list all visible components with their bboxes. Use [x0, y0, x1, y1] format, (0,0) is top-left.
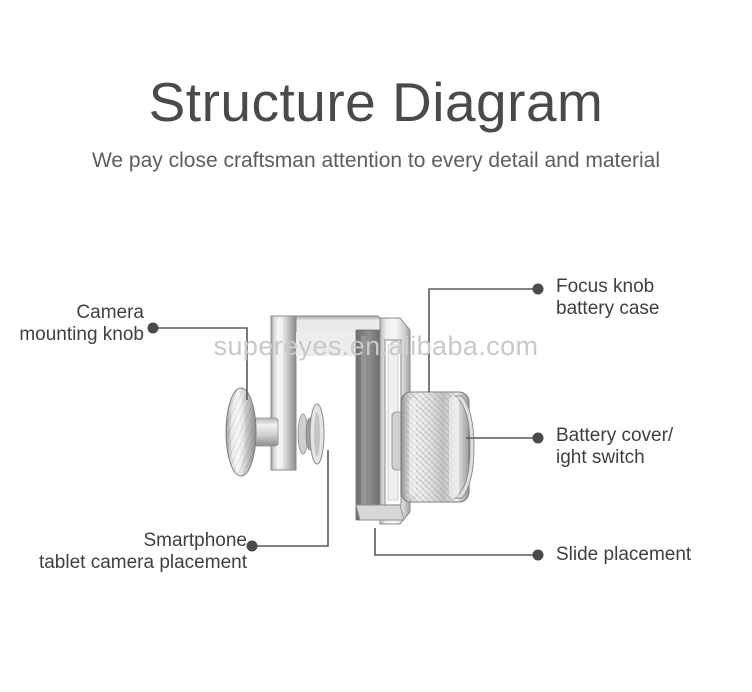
diagram-stage: Camera mounting knob Focus knob battery …	[0, 0, 752, 692]
callout-line-1: Slide placement	[556, 544, 691, 565]
callout-line-1: Focus knob	[556, 276, 654, 297]
callout-slide-placement: Slide placement	[556, 544, 691, 566]
callout-line-2: ight switch	[556, 447, 673, 469]
callout-camera-mounting-knob: Camera mounting knob	[19, 302, 144, 347]
callout-focus-knob-battery-case: Focus knob battery case	[556, 276, 660, 321]
product-body	[226, 316, 474, 524]
leader-slide-placement	[375, 528, 536, 555]
callout-line-2: battery case	[556, 298, 660, 320]
callout-line-1: Battery cover/	[556, 425, 673, 446]
leader-dot-camera-mounting-knob	[148, 323, 159, 334]
leader-dot-slide-placement	[533, 550, 544, 561]
leader-dot-smartphone-placement	[247, 541, 258, 552]
leader-dot-battery-cover	[533, 433, 544, 444]
leader-focus-knob	[429, 289, 536, 392]
callout-smartphone-tablet-camera-placement: Smartphone tablet camera placement	[39, 530, 247, 575]
callout-battery-cover-light-switch: Battery cover/ ight switch	[556, 425, 673, 470]
leader-dot-focus-knob	[533, 284, 544, 295]
callout-line-2: tablet camera placement	[39, 552, 247, 574]
callout-line-1: Camera	[76, 302, 144, 323]
leader-camera-mounting-knob	[155, 328, 247, 400]
callout-line-1: Smartphone	[143, 530, 247, 551]
callout-line-2: mounting knob	[19, 324, 144, 346]
structure-diagram-page: Structure Diagram We pay close craftsman…	[0, 0, 752, 692]
